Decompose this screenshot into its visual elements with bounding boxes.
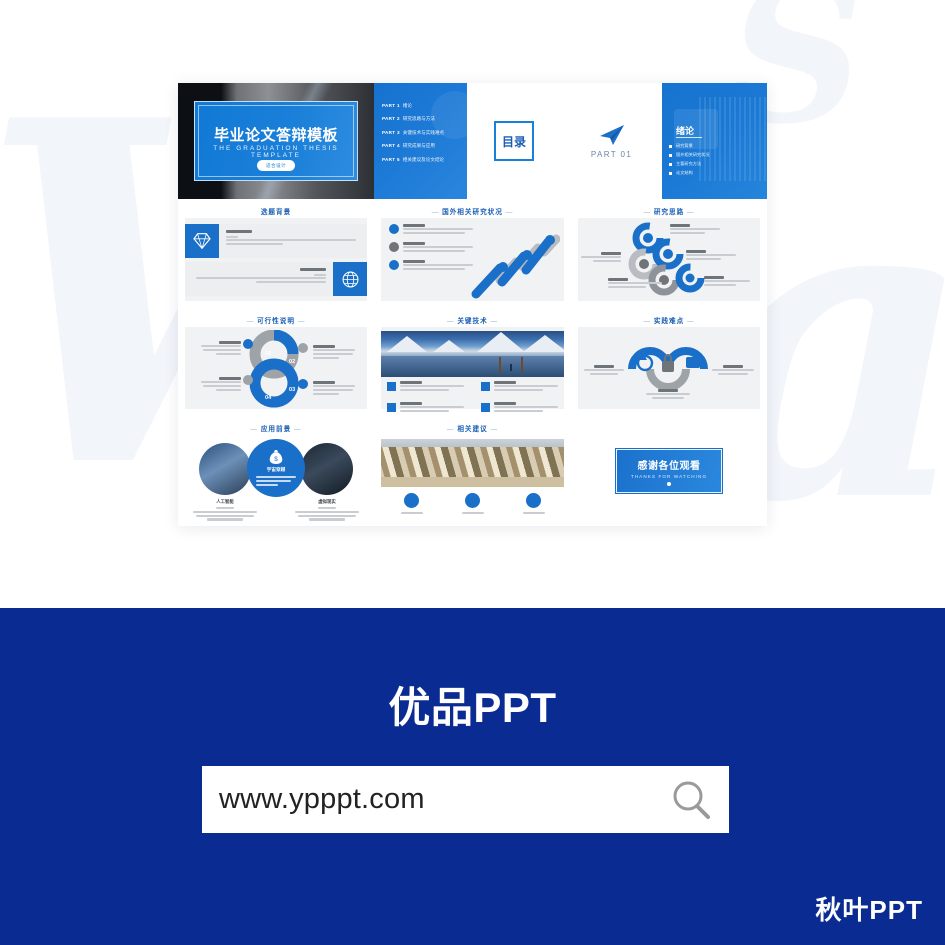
item-heading-bar <box>403 242 425 245</box>
item-text <box>193 511 257 513</box>
preview-row-4: — 应用前景 — $ 宇宙穿越 <box>178 416 767 526</box>
item-text <box>313 357 339 359</box>
toc-item: PART 2 研究思路与方法 <box>382 116 462 122</box>
toc-item-key: PART 3 <box>382 130 400 135</box>
cover-title-box: 毕业论文答辩模板 THE GRADUATION THESIS TEMPLATE … <box>194 101 358 181</box>
approach-label <box>686 250 736 262</box>
label-heading-bar <box>670 224 690 227</box>
bullet-dot-icon <box>243 375 253 385</box>
slide-title: — 实践难点 — <box>571 315 767 325</box>
item-text <box>400 385 464 387</box>
intro-rule <box>676 137 702 138</box>
slide-title-text: 研究思路 <box>654 209 684 216</box>
center-label: 宇宙穿越 <box>267 467 285 473</box>
tech-item <box>481 381 558 393</box>
item-text <box>298 515 356 517</box>
cover-title-cn: 毕业论文答辩模板 <box>195 124 357 145</box>
item-text <box>652 397 684 399</box>
feasibility-number: 01 <box>265 351 271 357</box>
approach-label <box>670 224 720 236</box>
preview-row-2: 选题背景 <box>178 199 767 308</box>
prospect-label: 虚拟现实 <box>295 499 359 505</box>
item-text <box>203 385 241 387</box>
slide-body <box>578 327 760 409</box>
item-text <box>201 345 241 347</box>
difficulty-item <box>584 365 624 377</box>
item-text <box>400 406 464 408</box>
search-input[interactable]: www.ypppt.com <box>202 783 653 816</box>
item-text <box>403 250 465 252</box>
label-text <box>670 232 705 234</box>
slide-practical-difficulties[interactable]: — 实践难点 — <box>571 308 767 416</box>
item-heading-bar <box>494 402 516 405</box>
item-heading-bar <box>403 224 425 227</box>
center-text <box>256 484 279 486</box>
card-heading-bar <box>226 230 252 233</box>
difficulty-item <box>712 365 754 377</box>
research-item-list <box>389 224 473 272</box>
item-label-bar <box>523 512 545 514</box>
item-text <box>403 264 473 266</box>
bullet-dot-icon <box>298 379 308 389</box>
center-circle: $ 宇宙穿越 <box>247 439 305 497</box>
item-rule <box>318 507 336 509</box>
item-text <box>207 518 243 520</box>
part-label: PART 01 <box>591 150 632 159</box>
slide-title-text: 国外相关研究状况 <box>442 209 503 216</box>
item-text <box>216 389 241 391</box>
slide-title-text: 关键技术 <box>457 318 487 325</box>
slide-title: — 相关建议 — <box>374 423 571 433</box>
thanks-dot-icon <box>667 482 671 486</box>
item-text <box>201 381 241 383</box>
item-text <box>712 369 754 371</box>
card-text <box>226 239 356 241</box>
approach-label <box>704 276 750 288</box>
toc-list: PART 1 绪论 PART 2 研究思路与方法 PART 3 关键技术与实践难… <box>382 103 462 170</box>
label-text <box>686 254 736 256</box>
slide-body <box>381 435 564 519</box>
prospect-item-left: 人工智能 <box>193 499 257 522</box>
item-text <box>295 511 359 513</box>
item-text <box>400 389 449 391</box>
feasibility-item <box>201 377 241 392</box>
intro-bullet: 国外相关研究状况 <box>676 152 710 158</box>
item-text <box>309 518 345 520</box>
label-text <box>593 260 621 262</box>
item-text <box>718 373 748 375</box>
item-heading-bar <box>400 381 422 384</box>
item-text <box>216 353 241 355</box>
slide-title-text: 相关建议 <box>457 426 487 433</box>
item-label-bar <box>401 512 423 514</box>
center-text <box>256 480 291 482</box>
slide-body <box>381 327 564 409</box>
slide-title-text: 实践难点 <box>654 318 684 325</box>
recommendation-item <box>462 493 484 514</box>
item-text <box>584 369 624 371</box>
intro-bullet: 论文结构 <box>676 170 693 176</box>
slide-application-prospects[interactable]: — 应用前景 — $ 宇宙穿越 <box>178 416 374 526</box>
toc-item-key: PART 2 <box>382 116 400 121</box>
tech-item <box>387 402 464 414</box>
slide-intro[interactable]: 绪论 研究背景 国外相关研究状况 主要研究方法 论文结构 <box>662 83 767 199</box>
recommendation-icons <box>381 493 564 514</box>
item-heading-bar <box>658 389 678 392</box>
item-heading-bar <box>313 381 335 384</box>
slide-body <box>381 218 564 301</box>
diamond-icon <box>185 224 219 258</box>
cover-title-en: THE GRADUATION THESIS TEMPLATE <box>195 145 357 159</box>
tech-item <box>387 381 464 393</box>
svg-text:$: $ <box>274 456 278 463</box>
item-text <box>494 410 543 412</box>
toc-item: PART 5 相关建议及论文结论 <box>382 157 462 163</box>
feasibility-number: 04 <box>265 395 271 401</box>
slide-thanks[interactable]: 感谢各位观看 THANKS FOR WATCHING <box>571 416 767 526</box>
label-heading-bar <box>704 276 724 279</box>
feasibility-number: 03 <box>289 387 295 393</box>
label-text <box>608 282 662 284</box>
slide-body <box>185 218 367 301</box>
slide-key-technology[interactable]: — 关键技术 — <box>374 308 571 416</box>
target-icon <box>526 493 541 508</box>
item-heading-bar <box>313 345 335 348</box>
item-text <box>403 228 473 230</box>
approach-label <box>608 278 662 290</box>
mountain-lake-photo <box>381 331 564 377</box>
person-photo-right <box>301 443 353 495</box>
recommendation-item <box>523 493 545 514</box>
toc-item-key: PART 1 <box>382 103 400 108</box>
card-text <box>196 277 326 279</box>
slide-title: — 应用前景 — <box>178 423 374 433</box>
intro-title: 绪论 <box>676 124 694 137</box>
intro-bullet: 研究背景 <box>676 143 693 149</box>
item-text <box>590 373 619 375</box>
toc-item-label: 研究思路与方法 <box>403 116 435 122</box>
approach-label <box>581 252 621 264</box>
label-text <box>581 256 621 258</box>
play-icon <box>387 403 396 412</box>
globe-icon <box>333 262 367 296</box>
slide-body: 01 02 03 04 <box>185 327 367 409</box>
label-heading-bar <box>608 278 628 281</box>
slide-topic-background[interactable]: 选题背景 <box>178 199 374 308</box>
toc-item-key: PART 4 <box>382 143 400 148</box>
item-text <box>313 353 353 355</box>
slide-research-approach[interactable]: — 研究思路 — <box>571 199 767 308</box>
slide-title: — 可行性说明 — <box>178 315 374 325</box>
toc-item-label: 研究成果与应用 <box>403 143 435 149</box>
difficulty-item <box>646 389 690 401</box>
item-text <box>403 232 465 234</box>
slide-body <box>578 218 760 301</box>
search-bar[interactable]: www.ypppt.com <box>202 766 729 833</box>
item-text <box>494 385 558 387</box>
slide-feasibility[interactable]: — 可行性说明 — 01 02 03 04 <box>178 308 374 416</box>
preview-row-3: — 可行性说明 — 01 02 03 04 <box>178 308 767 416</box>
card-heading-bar <box>300 268 326 271</box>
item-heading-bar <box>403 260 425 263</box>
document-icon <box>404 493 419 508</box>
magnifier-icon[interactable] <box>653 778 729 822</box>
label-text <box>704 280 750 282</box>
background-card-region <box>185 262 367 296</box>
slide-title: — 国外相关研究状况 — <box>374 206 571 216</box>
monitor-icon <box>389 224 399 234</box>
mail-icon <box>481 382 490 391</box>
item-text <box>313 385 355 387</box>
label-heading-bar <box>686 250 706 253</box>
item-text <box>313 393 339 395</box>
item-label-bar <box>462 512 484 514</box>
footer-watermark: 秋叶PPT <box>815 890 923 927</box>
card-text-block <box>191 268 326 285</box>
label-text <box>704 284 736 286</box>
intro-bullet: 主要研究方法 <box>676 161 701 167</box>
toc-item: PART 3 关键技术与实践难点 <box>382 130 462 136</box>
item-text <box>313 389 353 391</box>
item-heading-bar <box>219 377 241 380</box>
label-text <box>608 286 646 288</box>
prospect-item-right: 虚拟现实 <box>295 499 359 522</box>
label-text <box>686 258 721 260</box>
item-text <box>400 410 449 412</box>
slide-title: — 关键技术 — <box>374 315 571 325</box>
slide-title-text: 应用前景 <box>261 426 291 433</box>
item-text <box>494 406 558 408</box>
item-text <box>403 268 465 270</box>
locked-cycle-diagram <box>620 335 716 397</box>
bullet-dot-icon <box>243 339 253 349</box>
slide-table-of-contents[interactable]: PART 1 绪论 PART 2 研究思路与方法 PART 3 关键技术与实践难… <box>374 83 467 199</box>
center-text <box>256 476 297 478</box>
card-text <box>256 281 326 283</box>
list-icon <box>481 403 490 412</box>
grid-icon <box>387 382 396 391</box>
item-heading-bar <box>400 402 422 405</box>
label-text <box>670 228 720 230</box>
feasibility-number: 02 <box>289 359 295 365</box>
slide-title: — 研究思路 — <box>571 206 767 216</box>
slide-overseas-research[interactable]: — 国外相关研究状况 — <box>374 199 571 308</box>
template-preview-card[interactable]: 毕业论文答辩模板 THE GRADUATION THESIS TEMPLATE … <box>178 83 767 526</box>
page-root: W a S 毕业论文答辩模板 THE GRADUATION THESIS TEM… <box>0 0 945 945</box>
person-photo-left <box>199 443 251 495</box>
feasibility-item <box>313 381 355 396</box>
card-text <box>226 243 283 245</box>
research-item <box>389 224 473 234</box>
item-heading-bar <box>723 365 743 368</box>
thanks-title-cn: 感谢各位观看 <box>638 457 701 472</box>
card-text-block <box>226 230 361 247</box>
paper-plane-icon <box>599 124 625 146</box>
background-card-industry <box>185 224 367 258</box>
feasibility-item <box>201 341 241 356</box>
item-heading-bar <box>594 365 614 368</box>
item-text <box>313 349 355 351</box>
bullet-dot-icon <box>298 343 308 353</box>
slide-recommendations[interactable]: — 相关建议 — <box>374 416 571 526</box>
slide-part-divider[interactable]: PART 01 <box>561 83 662 199</box>
money-bag-icon: $ <box>269 449 283 465</box>
tech-item <box>481 402 558 414</box>
recommendation-item <box>401 493 423 514</box>
card-rule <box>226 236 238 238</box>
item-text <box>203 349 241 351</box>
item-text <box>403 246 473 248</box>
item-text <box>494 389 543 391</box>
toc-item-key: PART 5 <box>382 157 400 162</box>
research-item <box>389 242 473 252</box>
directory-label: 目录 <box>494 121 534 161</box>
card-rule <box>314 274 326 276</box>
feasibility-item <box>313 345 355 360</box>
research-item <box>389 260 473 270</box>
cover-badge: 适合设计 <box>257 160 295 171</box>
item-text <box>196 515 254 517</box>
toc-item-label: 绪论 <box>403 103 412 109</box>
label-heading-bar <box>601 252 621 255</box>
thanks-box: 感谢各位观看 THANKS FOR WATCHING <box>616 449 722 493</box>
slide-title: 选题背景 <box>178 206 374 216</box>
boats-photo <box>381 439 564 487</box>
item-rule <box>216 507 234 509</box>
slide-cover[interactable]: 毕业论文答辩模板 THE GRADUATION THESIS TEMPLATE … <box>178 83 374 199</box>
slide-directory[interactable]: 目录 <box>467 83 561 199</box>
ascending-arrows-chart <box>470 224 560 302</box>
user-icon <box>389 242 399 252</box>
toc-item: PART 4 研究成果与应用 <box>382 143 462 149</box>
brand-title: 优品PPT <box>0 674 945 735</box>
prospect-label: 人工智能 <box>193 499 257 505</box>
drop-icon <box>389 260 399 270</box>
item-heading-bar <box>494 381 516 384</box>
toc-item-label: 关键技术与实践难点 <box>403 130 444 136</box>
toc-item-label: 相关建议及论文结论 <box>403 157 444 163</box>
slide-title-text: 可行性说明 <box>257 318 295 325</box>
item-heading-bar <box>219 341 241 344</box>
slide-body: $ 宇宙穿越 人工智能 <box>185 435 367 519</box>
thanks-title-en: THANKS FOR WATCHING <box>631 474 707 479</box>
preview-row-1: 毕业论文答辩模板 THE GRADUATION THESIS TEMPLATE … <box>178 83 767 199</box>
bank-icon <box>465 493 480 508</box>
item-text <box>646 393 690 395</box>
toc-item: PART 1 绪论 <box>382 103 462 109</box>
